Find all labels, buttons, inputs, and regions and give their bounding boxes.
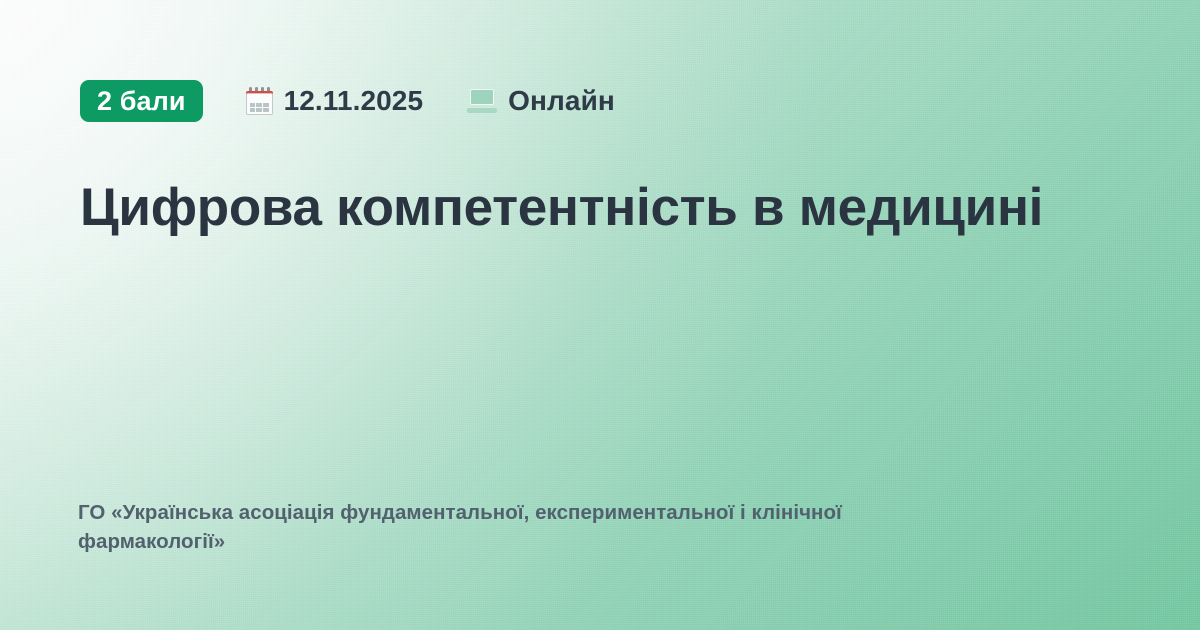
calendar-icon bbox=[246, 87, 273, 115]
credits-badge: 2 бали bbox=[80, 80, 203, 122]
meta-row: 2 бали 12.11.2025 Онлайн bbox=[80, 80, 1120, 122]
computer-icon bbox=[467, 88, 497, 114]
event-format-label: Онлайн bbox=[508, 85, 615, 117]
event-title: Цифрова компетентність в медицині bbox=[80, 178, 1140, 238]
event-date-label: 12.11.2025 bbox=[284, 85, 424, 117]
event-format: Онлайн bbox=[467, 85, 615, 117]
card-content: 2 бали 12.11.2025 Онлайн Цифро bbox=[0, 0, 1200, 630]
organizer-name: ГО «Українська асоціація фундаментальної… bbox=[78, 498, 978, 556]
event-date: 12.11.2025 bbox=[246, 85, 424, 117]
event-card: 2 бали 12.11.2025 Онлайн Цифро bbox=[0, 0, 1200, 630]
